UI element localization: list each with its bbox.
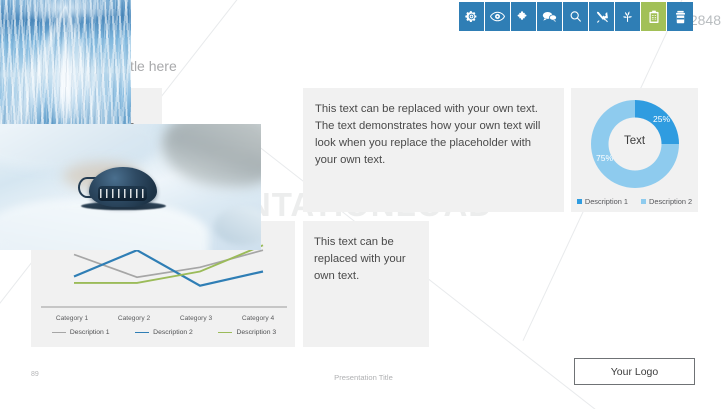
legend-label-series-2: Description 2 <box>153 329 193 336</box>
legend-swatch-1 <box>577 199 582 204</box>
text-placeholder-3[interactable]: This text can be replaced with your own … <box>303 221 429 347</box>
clipboard-icon[interactable] <box>641 2 667 31</box>
puzzle-icon[interactable] <box>511 2 537 31</box>
legend-item-description-1: Description 1 <box>577 197 628 206</box>
sprout-icon[interactable] <box>615 2 641 31</box>
line-chart-legend: Description 1 Description 2 Description … <box>39 329 289 336</box>
donut-value-label-1: 25% <box>653 114 670 124</box>
search-icon[interactable] <box>563 2 589 31</box>
image-marine-compass[interactable] <box>0 124 261 250</box>
text-placeholder-3-body: This text can be replaced with your own … <box>314 234 417 285</box>
logo-placeholder[interactable]: Your Logo <box>574 358 695 385</box>
legend-item-series-1: Description 1 <box>39 329 122 336</box>
donut-center-label: Text <box>624 135 645 147</box>
legend-label-2: Description 2 <box>649 197 692 206</box>
legend-item-series-2: Description 2 <box>122 329 205 336</box>
logo-placeholder-label: Your Logo <box>611 366 659 378</box>
eye-icon[interactable] <box>485 2 511 31</box>
legend-item-series-3: Description 3 <box>206 329 289 336</box>
tools-icon[interactable] <box>589 2 615 31</box>
line-chart-category-labels: Category 1 Category 2 Category 3 Categor… <box>41 315 289 322</box>
text-placeholder-2-body: This text can be replaced with your own … <box>315 101 550 170</box>
legend-label-1: Description 1 <box>585 197 628 206</box>
legend-dash-3 <box>218 332 232 334</box>
legend-item-description-2: Description 2 <box>641 197 692 206</box>
category-label-3: Category 3 <box>165 315 227 322</box>
legend-dash-1 <box>52 332 66 334</box>
image-ocean-wake[interactable] <box>0 0 131 124</box>
legend-dash-2 <box>135 332 149 334</box>
slide-canvas: PRESENTATIONLOAD #D2848 <box>0 0 727 409</box>
legend-label-series-1: Description 1 <box>70 329 110 336</box>
donut-value-label-2: 75% <box>596 153 613 163</box>
image-ocean-wake-render <box>0 0 131 124</box>
chat-icon[interactable] <box>537 2 563 31</box>
legend-swatch-2 <box>641 199 646 204</box>
category-label-2: Category 2 <box>103 315 165 322</box>
text-placeholder-2[interactable]: This text can be replaced with your own … <box>303 88 564 212</box>
category-label-1: Category 1 <box>41 315 103 322</box>
jar-icon[interactable] <box>667 2 693 31</box>
category-label-4: Category 4 <box>227 315 289 322</box>
gear-icon[interactable] <box>459 2 485 31</box>
image-marine-compass-render <box>0 124 261 250</box>
legend-label-series-3: Description 3 <box>236 329 276 336</box>
compass-object <box>89 167 157 207</box>
donut-chart-legend: Description 1 Description 2 <box>571 197 698 206</box>
donut-chart[interactable]: Text 25% 75% Description 1 Description 2 <box>571 88 698 212</box>
icon-toolbar[interactable] <box>459 2 693 31</box>
